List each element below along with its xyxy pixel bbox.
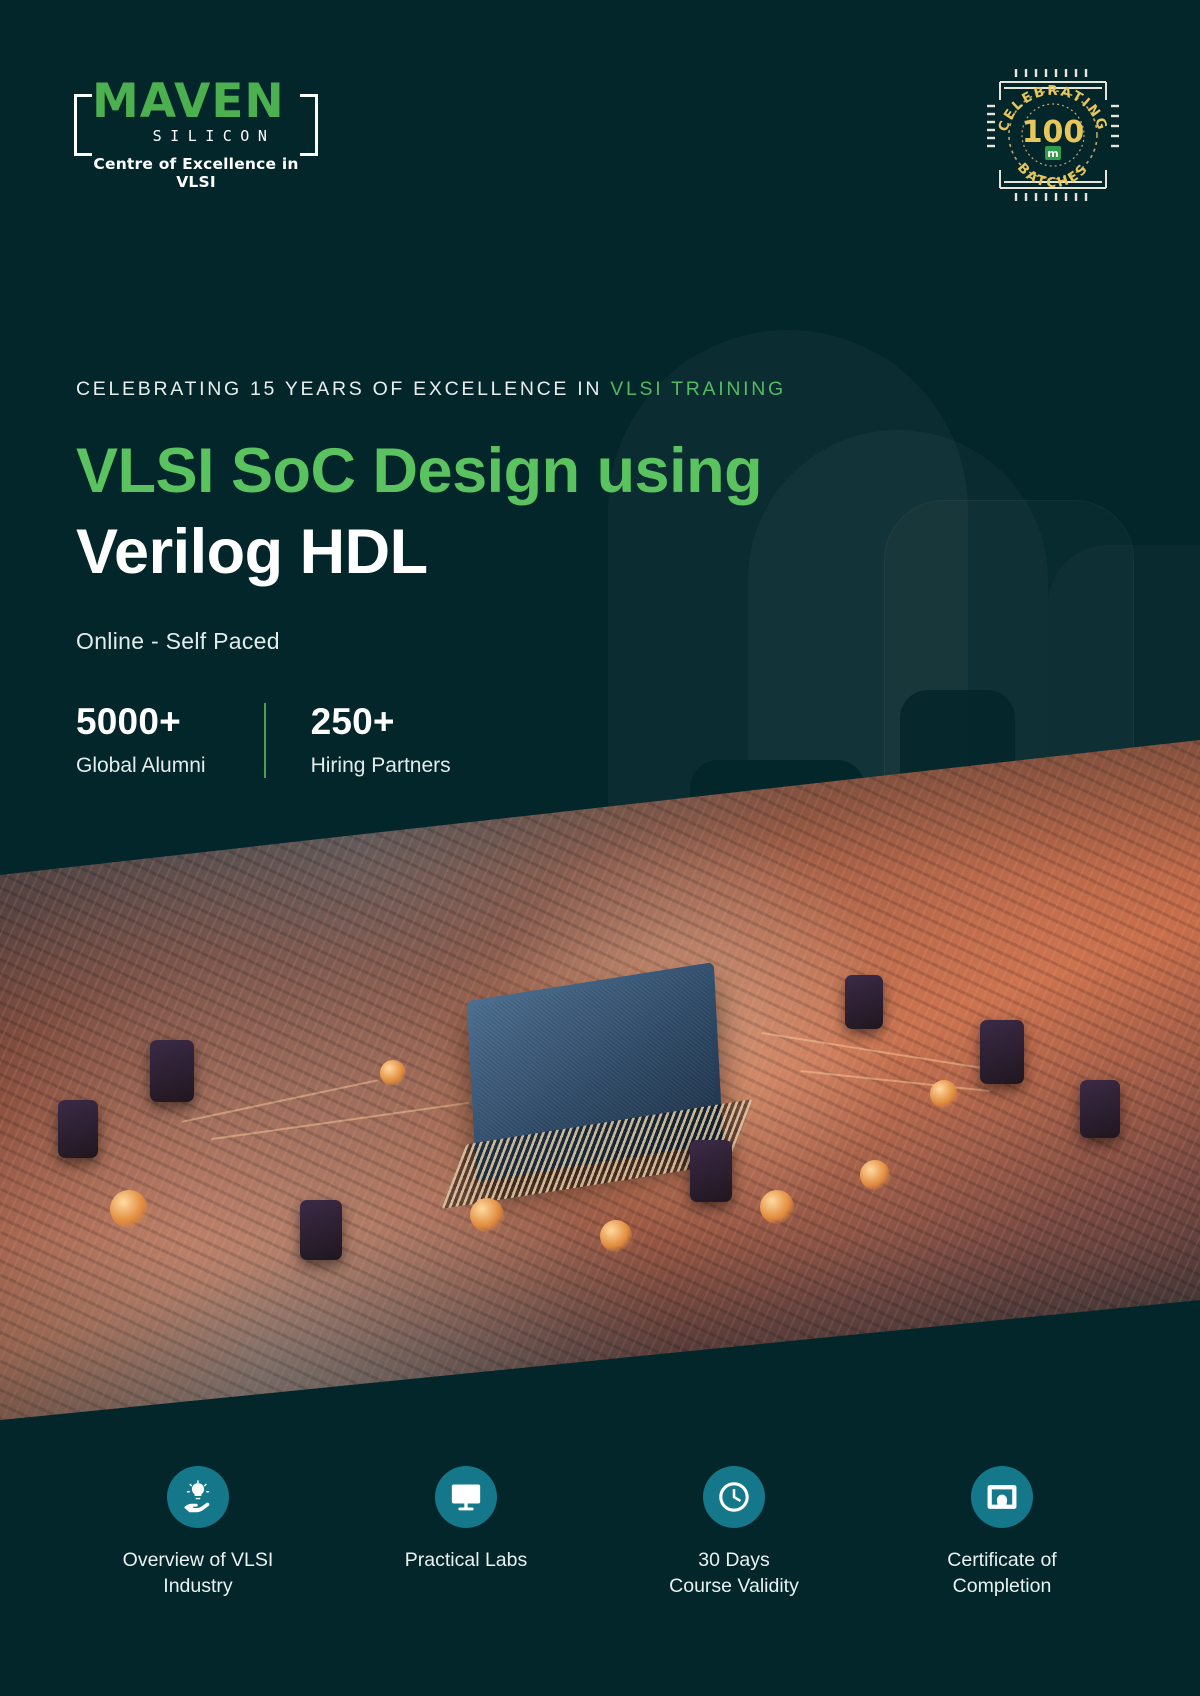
- stat-hiring-partners: 250+ Hiring Partners: [264, 703, 509, 778]
- course-mode: Online - Self Paced: [76, 628, 896, 655]
- feature-label: Practical Labs: [405, 1548, 527, 1574]
- features-footer: Overview of VLSI Industry Practical Labs: [0, 1366, 1200, 1696]
- stats-row: 5000+ Global Alumni 250+ Hiring Partners: [76, 703, 896, 778]
- clock-icon: [703, 1466, 765, 1528]
- photo-overlay: [0, 720, 1200, 1420]
- feature-certificate-of-completion[interactable]: Certificate of Completion: [868, 1466, 1136, 1599]
- page-title: VLSI SoC Design using Verilog HDL: [76, 431, 896, 592]
- hand-lightbulb-icon: [167, 1466, 229, 1528]
- header: MAVEN SILICON Centre of Excellence in VL…: [0, 0, 1200, 240]
- feature-course-validity[interactable]: 30 Days Course Validity: [600, 1466, 868, 1599]
- page-title-line-2: Verilog HDL: [76, 512, 896, 593]
- logo-bracket-right-icon: [300, 94, 318, 156]
- feature-practical-labs[interactable]: Practical Labs: [332, 1466, 600, 1599]
- logo-word-text: MAVEN: [92, 74, 285, 129]
- badge-bottom-arc-text: BATCHES: [1014, 160, 1092, 191]
- hero-section: CELEBRATING 15 YEARS OF EXCELLENCE IN VL…: [76, 378, 896, 778]
- feature-label: 30 Days Course Validity: [669, 1548, 799, 1599]
- celebrating-100-batches-badge: CELEBRATING BATCHES 100 m: [978, 60, 1128, 210]
- stat-value: 5000+: [76, 703, 206, 742]
- stat-label: Global Alumni: [76, 754, 206, 778]
- certificate-icon: [971, 1466, 1033, 1528]
- svg-text:m: m: [1047, 147, 1058, 160]
- brochure-page: MAVEN SILICON Centre of Excellence in VL…: [0, 0, 1200, 1696]
- feature-label: Overview of VLSI Industry: [123, 1548, 274, 1599]
- feature-overview-of-vlsi-industry[interactable]: Overview of VLSI Industry: [64, 1466, 332, 1599]
- logo-wordmark: MAVEN: [76, 78, 316, 125]
- feature-list: Overview of VLSI Industry Practical Labs: [64, 1466, 1136, 1599]
- stat-value: 250+: [311, 703, 451, 742]
- stat-label: Hiring Partners: [311, 754, 451, 778]
- hero-kicker: CELEBRATING 15 YEARS OF EXCELLENCE IN VL…: [76, 378, 896, 401]
- page-title-line-1: VLSI SoC Design using: [76, 431, 896, 512]
- hero-kicker-accent: VLSI TRAINING: [610, 378, 786, 400]
- monitor-icon: [435, 1466, 497, 1528]
- stat-global-alumni: 5000+ Global Alumni: [76, 703, 264, 778]
- badge-number-text: 100: [1022, 115, 1085, 150]
- feature-label: Certificate of Completion: [947, 1548, 1056, 1599]
- logo-bracket-left-icon: [74, 94, 92, 156]
- circuit-board-photo: [0, 720, 1200, 1420]
- hero-kicker-prefix: CELEBRATING 15 YEARS OF EXCELLENCE IN: [76, 378, 610, 400]
- logo-tagline: Centre of Excellence in VLSI: [76, 155, 316, 191]
- logo-subword: SILICON: [76, 127, 316, 145]
- maven-silicon-logo[interactable]: MAVEN SILICON Centre of Excellence in VL…: [76, 78, 316, 191]
